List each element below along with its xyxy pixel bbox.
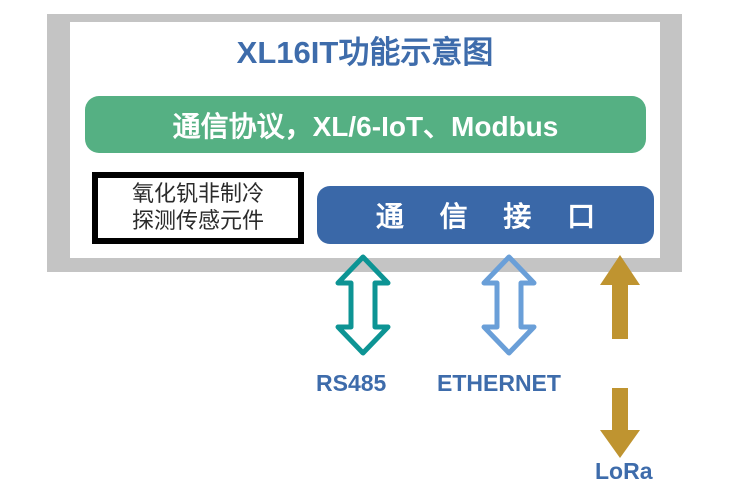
arrow-down-solid-icon	[598, 388, 642, 460]
protocol-banner-label: 通信协议，XL/6-IoT、Modbus	[173, 105, 559, 145]
sensor-module-line-1: 氧化钒非制冷	[132, 181, 264, 208]
arrow-up-solid-icon	[598, 253, 642, 341]
communication-interface-box: 通 信 接 口	[317, 186, 654, 244]
sensor-module-box-inner: 氧化钒非制冷 探测传感元件	[98, 178, 298, 238]
protocol-banner: 通信协议，XL/6-IoT、Modbus	[85, 96, 646, 153]
double-headed-arrow-vertical-outline-icon	[478, 253, 540, 357]
page-title: XL16IT功能示意图	[70, 33, 660, 73]
communication-interface-label: 通 信 接 口	[362, 195, 609, 235]
sensor-module-line-2: 探测传感元件	[132, 208, 264, 235]
sensor-module-box: 氧化钒非制冷 探测传感元件	[92, 172, 304, 244]
connection-label-lora: LoRa	[595, 458, 653, 485]
double-headed-arrow-vertical-outline-icon	[332, 253, 394, 357]
diagram-canvas: XL16IT功能示意图 通信协议，XL/6-IoT、Modbus 氧化钒非制冷 …	[0, 0, 750, 500]
connection-label-rs485: RS485	[316, 370, 386, 397]
connection-label-ethernet: ETHERNET	[437, 370, 561, 397]
